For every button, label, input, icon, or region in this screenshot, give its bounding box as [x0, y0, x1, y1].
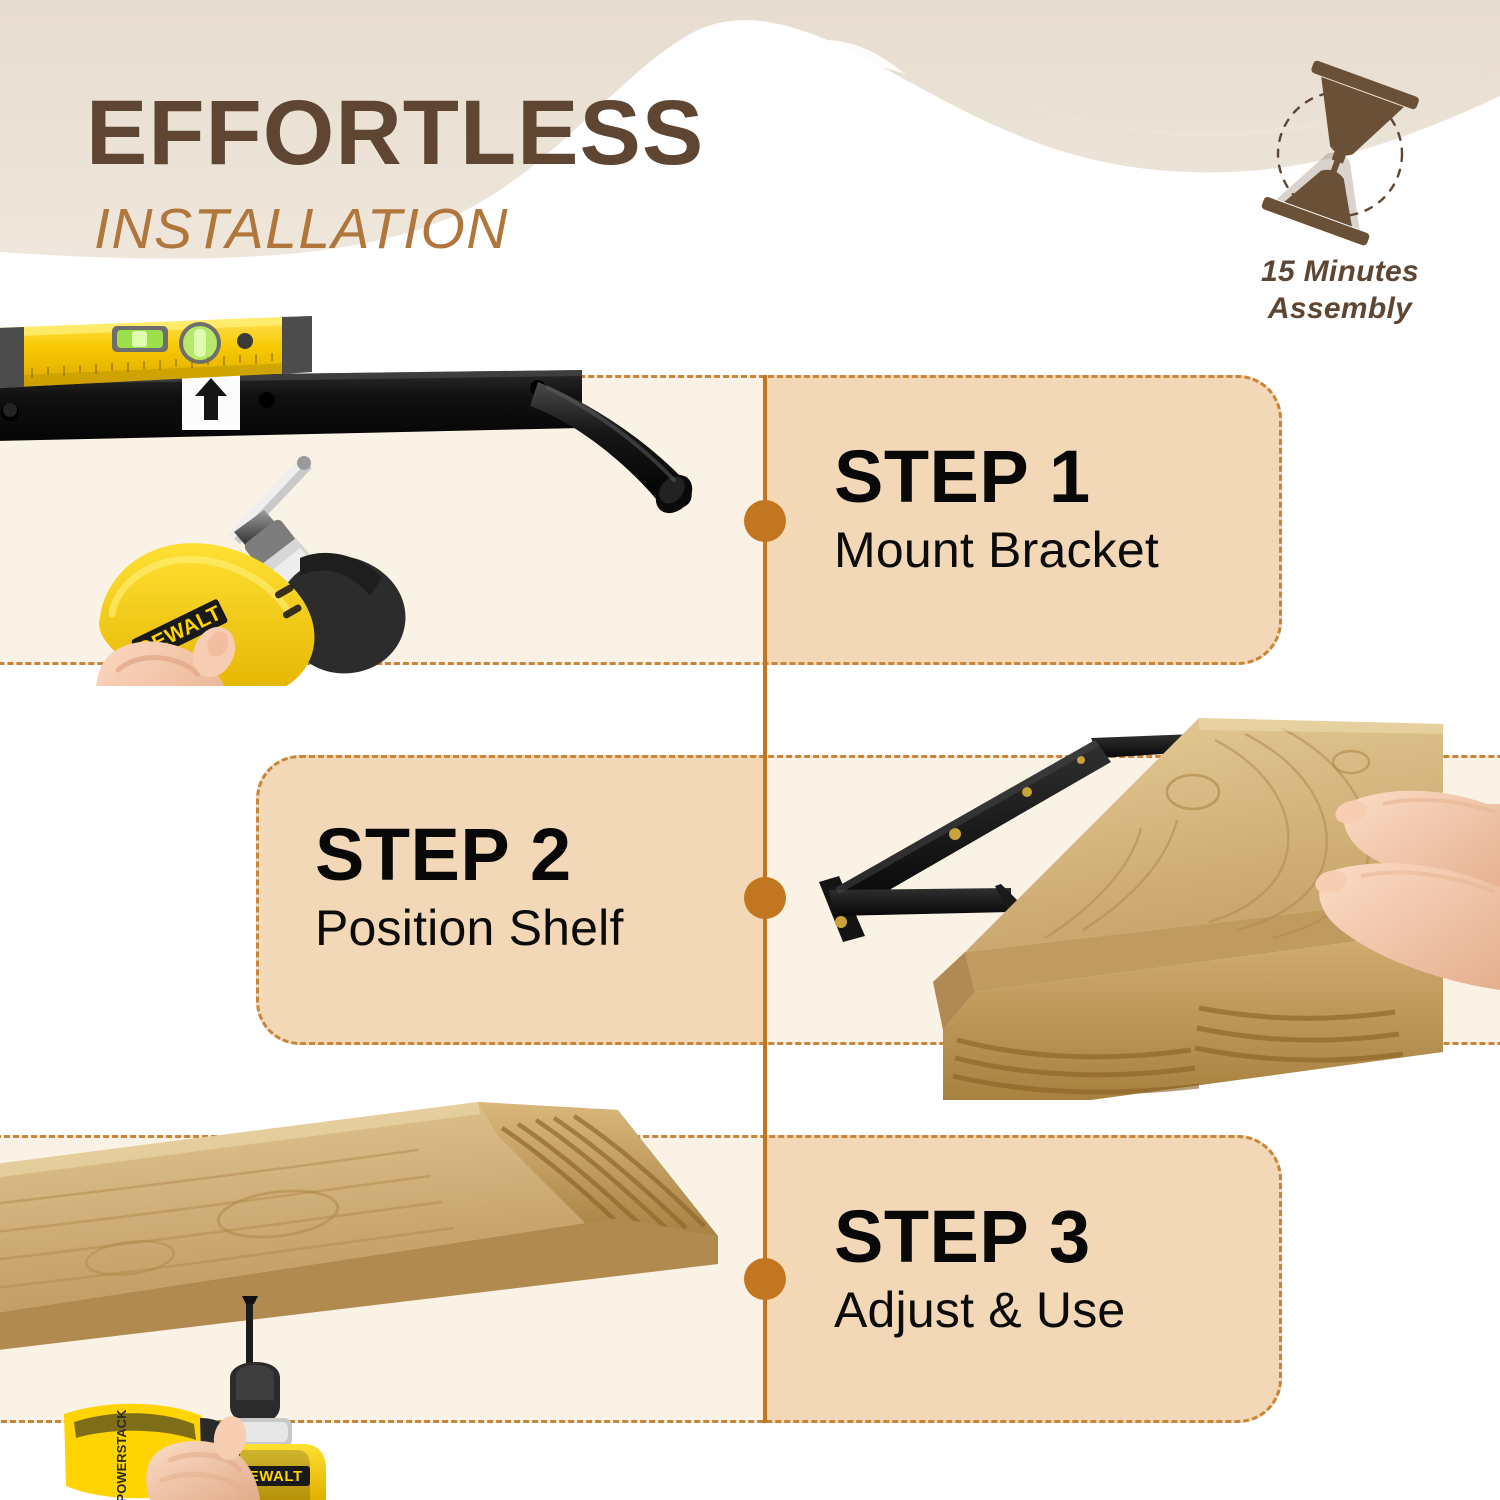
step-3-photo: DEWALT POWERSTACK — [0, 1088, 768, 1500]
timeline-dot-step-2 — [744, 877, 786, 919]
step-3-number: STEP 3 — [834, 1200, 1125, 1274]
step-1-photo: DEWALT — [0, 296, 742, 686]
wood-shelf-board — [0, 1102, 718, 1356]
step-2-caption: STEP 2 Position Shelf — [315, 818, 624, 955]
assembly-time-badge: 15 Minutes Assembly — [1212, 58, 1468, 327]
step-2-photo — [795, 700, 1500, 1100]
step-2-number: STEP 2 — [315, 818, 624, 892]
bracket-rod — [530, 382, 700, 520]
step-1-number: STEP 1 — [834, 440, 1159, 514]
step-2-action: Position Shelf — [315, 902, 624, 955]
hourglass-icon — [1240, 58, 1440, 248]
step-3-caption: STEP 3 Adjust & Use — [834, 1200, 1125, 1337]
timeline-dot-step-1 — [744, 500, 786, 542]
badge-line-2: Assembly — [1212, 291, 1468, 328]
svg-text:POWERSTACK: POWERSTACK — [114, 1409, 129, 1500]
badge-line-1: 15 Minutes — [1212, 254, 1468, 291]
step-1-action: Mount Bracket — [834, 524, 1159, 577]
page-title-primary: EFFORTLESS — [86, 88, 704, 178]
step-3-action: Adjust & Use — [834, 1284, 1125, 1337]
step-1-caption: STEP 1 Mount Bracket — [834, 440, 1159, 577]
page-title-secondary: INSTALLATION — [94, 196, 704, 262]
page-heading: EFFORTLESS INSTALLATION — [86, 88, 704, 262]
timeline-dot-step-3 — [744, 1258, 786, 1300]
badge-text: 15 Minutes Assembly — [1212, 254, 1468, 327]
